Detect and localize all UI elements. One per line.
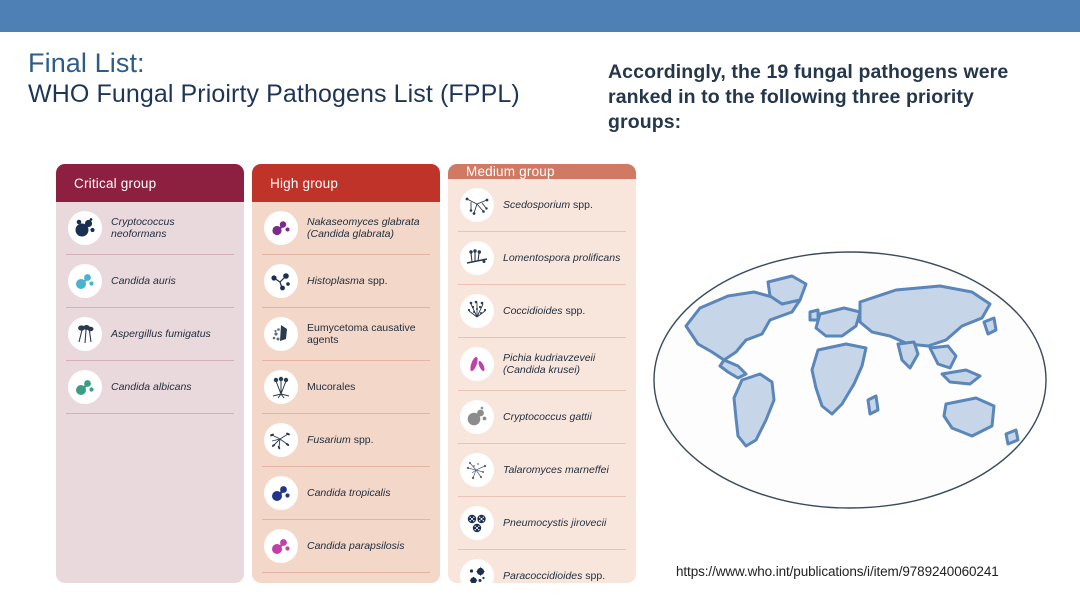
- pathogen-row[interactable]: Lomentospora prolificans: [458, 231, 626, 284]
- priority-column-medium: Medium group: [448, 164, 636, 583]
- priority-column-critical: Critical group Cryptococcus neoformans: [56, 164, 244, 583]
- pathogen-row[interactable]: Scedosporium spp.: [458, 179, 626, 231]
- candida-auris-icon: [68, 264, 102, 298]
- priority-column-high: High group Nakaseomyces glabrata (Candid…: [252, 164, 440, 583]
- column-body-high: Nakaseomyces glabrata (Candida glabrata)…: [252, 202, 440, 583]
- pathogen-row[interactable]: Paracoccidioides spp.: [458, 549, 626, 583]
- pathogen-row[interactable]: Histoplasma spp.: [262, 254, 430, 307]
- pathogen-name: Aspergillus fumigatus: [111, 328, 211, 341]
- fusarium-icon: [264, 423, 298, 457]
- priority-group-columns: Critical group Cryptococcus neoformans: [56, 164, 636, 583]
- pathogen-name: Pneumocystis jirovecii: [503, 517, 606, 530]
- pathogen-name: Paracoccidioides spp.: [503, 570, 605, 583]
- lomentospora-prolificans-icon: [460, 241, 494, 275]
- pathogen-name: Mucorales: [307, 381, 355, 394]
- title-line-primary: Final List:: [28, 48, 608, 78]
- pathogen-name: Pichia kudriavzeveii (Candida krusei): [503, 352, 624, 377]
- pathogen-row[interactable]: Mucorales: [262, 360, 430, 413]
- who-world-map: [650, 248, 1050, 513]
- cryptococcus-gattii-icon: [460, 400, 494, 434]
- pathogen-name: Eumycetoma causative agents: [307, 322, 428, 347]
- pichia-kudriavzeveii-icon: [460, 347, 494, 381]
- paracoccidioides-icon: [460, 559, 494, 583]
- source-url[interactable]: https://www.who.int/publications/i/item/…: [676, 564, 999, 579]
- talaromyces-marneffei-icon: [460, 453, 494, 487]
- column-header-high: High group: [252, 164, 440, 202]
- pathogen-name: Fusarium spp.: [307, 434, 374, 447]
- column-header-medium: Medium group: [448, 164, 636, 179]
- pathogen-row[interactable]: Pneumocystis jirovecii: [458, 496, 626, 549]
- pathogen-row[interactable]: Fusarium spp.: [262, 413, 430, 466]
- intro-paragraph: Accordingly, the 19 fungal pathogens wer…: [608, 60, 1048, 135]
- pathogen-name: Candida tropicalis: [307, 487, 390, 500]
- cryptococcus-neoformans-icon: [68, 211, 102, 245]
- column-body-medium: Scedosporium spp.: [448, 179, 636, 583]
- pathogen-row[interactable]: Cryptococcus neoformans: [66, 202, 234, 254]
- eumycetoma-icon: [264, 317, 298, 351]
- pathogen-row[interactable]: Nakaseomyces glabrata (Candida glabrata): [262, 202, 430, 254]
- pathogen-name: Candida parapsilosis: [307, 540, 404, 553]
- candida-tropicalis-icon: [264, 476, 298, 510]
- candida-parapsilosis-icon: [264, 529, 298, 563]
- coccidioides-icon: [460, 294, 494, 328]
- page-title: Final List: WHO Fungal Prioirty Pathogen…: [28, 48, 608, 110]
- pathogen-name: Cryptococcus neoformans: [111, 216, 232, 241]
- nakaseomyces-glabrata-icon: [264, 211, 298, 245]
- pathogen-name: Coccidioides spp.: [503, 305, 585, 318]
- pathogen-row[interactable]: Coccidioides spp.: [458, 284, 626, 337]
- pathogen-row[interactable]: Pichia kudriavzeveii (Candida krusei): [458, 337, 626, 390]
- pathogen-row[interactable]: Eumycetoma causative agents: [262, 307, 430, 360]
- top-accent-band: [0, 0, 1080, 32]
- pathogen-name: Scedosporium spp.: [503, 199, 593, 212]
- title-line-secondary: WHO Fungal Prioirty Pathogens List (FPPL…: [28, 78, 608, 110]
- aspergillus-fumigatus-icon: [68, 317, 102, 351]
- pathogen-row[interactable]: Aspergillus fumigatus: [66, 307, 234, 360]
- pathogen-name: Histoplasma spp.: [307, 275, 388, 288]
- pathogen-row[interactable]: Candida tropicalis: [262, 466, 430, 519]
- pathogen-name: Nakaseomyces glabrata (Candida glabrata): [307, 216, 428, 241]
- pathogen-name: Talaromyces marneffei: [503, 464, 609, 477]
- pathogen-name: Lomentospora prolificans: [503, 252, 620, 265]
- pneumocystis-jirovecii-icon: [460, 506, 494, 540]
- candida-albicans-icon: [68, 370, 102, 404]
- column-header-critical: Critical group: [56, 164, 244, 202]
- pathogen-name: Cryptococcus gattii: [503, 411, 592, 424]
- pathogen-row[interactable]: Talaromyces marneffei: [458, 443, 626, 496]
- pathogen-row[interactable]: Candida albicans: [66, 360, 234, 414]
- pathogen-row[interactable]: Cryptococcus gattii: [458, 390, 626, 443]
- scedosporium-icon: [460, 188, 494, 222]
- mucorales-icon: [264, 370, 298, 404]
- pathogen-row[interactable]: Candida auris: [66, 254, 234, 307]
- pathogen-name: Candida albicans: [111, 381, 192, 394]
- pathogen-row[interactable]: Candida parapsilosis: [262, 519, 430, 573]
- column-body-critical: Cryptococcus neoformans Candida auris: [56, 202, 244, 583]
- pathogen-name: Candida auris: [111, 275, 176, 288]
- histoplasma-icon: [264, 264, 298, 298]
